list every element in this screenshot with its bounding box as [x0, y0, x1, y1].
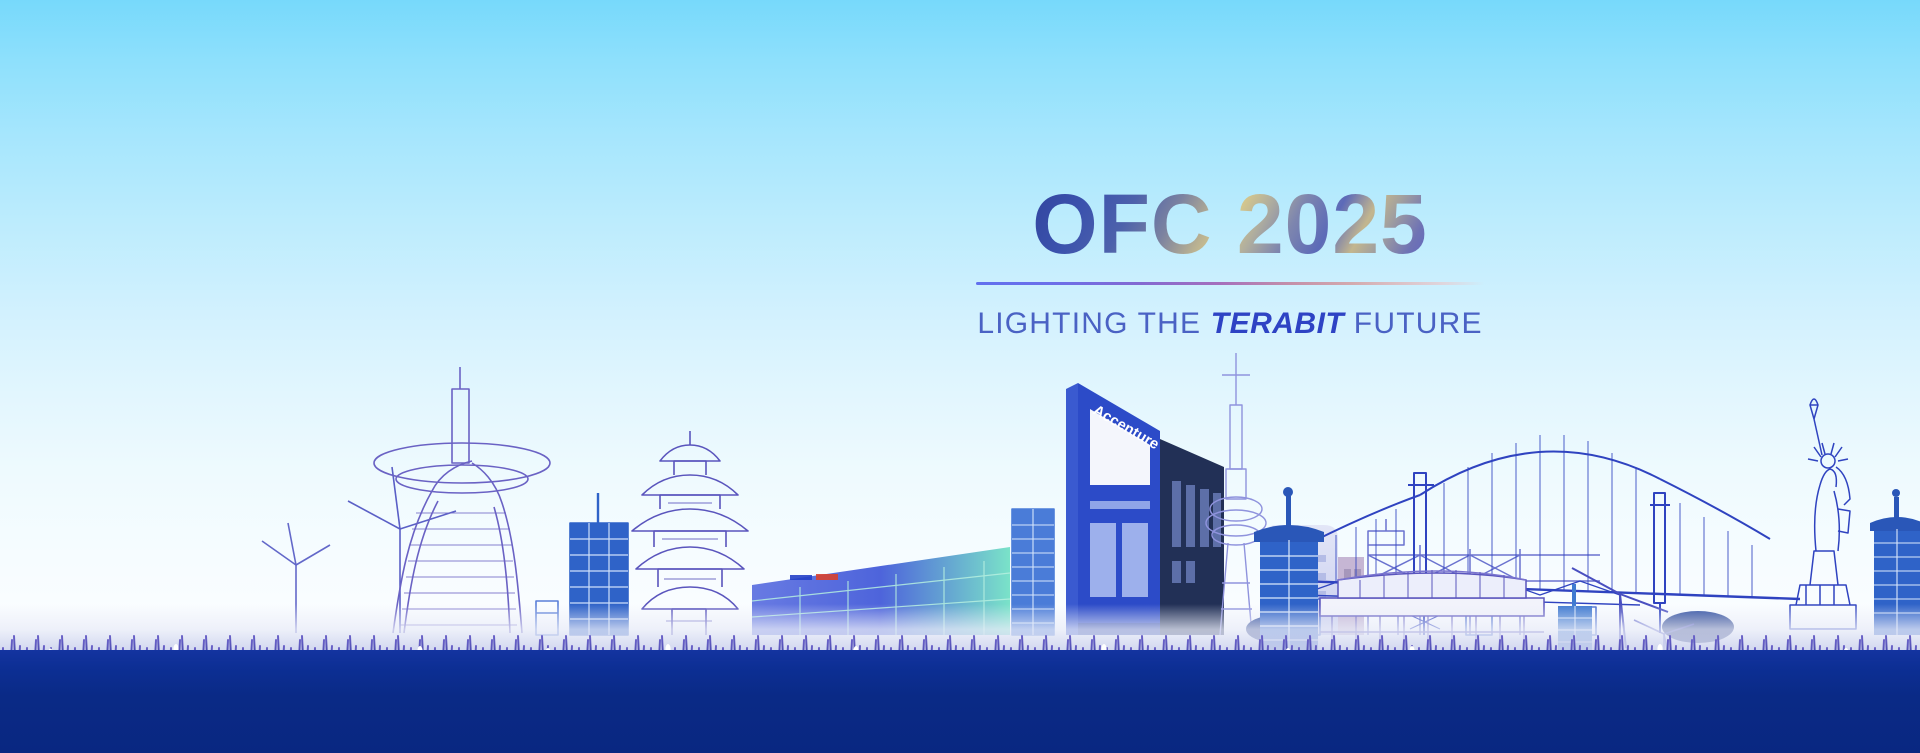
tagline: LIGHTING THE TERABIT FUTURE: [970, 307, 1490, 341]
ofc-banner: Accenture: [0, 0, 1920, 753]
tagline-emphasis: TERABIT: [1211, 307, 1345, 340]
title-block: OFC 2025 LIGHTING THE TERABIT FUTURE: [970, 182, 1490, 341]
tagline-suffix: FUTURE: [1344, 307, 1482, 340]
office-tower-left: [570, 493, 628, 635]
ground-band: [0, 650, 1920, 753]
dark-slab-tower: [1160, 439, 1224, 635]
yellow-crane-pagoda: [632, 431, 748, 635]
tagline-prefix: LIGHTING THE: [977, 307, 1210, 340]
wind-turbine-left-small: [262, 523, 330, 633]
page-title: OFC 2025: [970, 182, 1490, 266]
title-divider: [976, 282, 1484, 285]
